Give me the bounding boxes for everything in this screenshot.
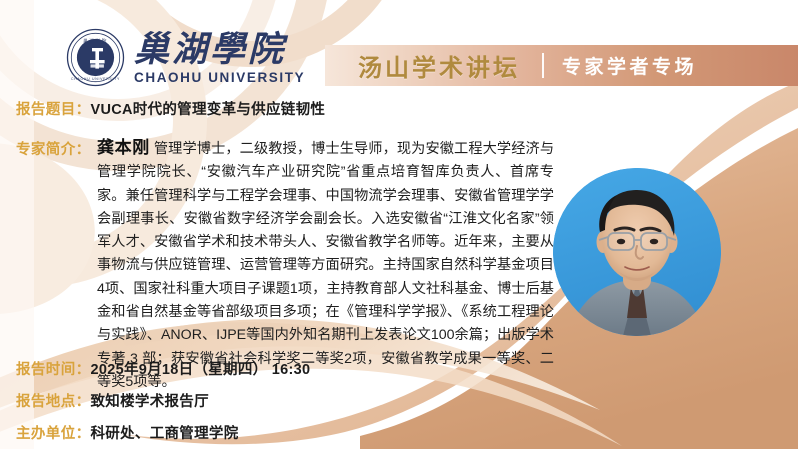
field-row-bio: 专家简介： 龚本刚 管理学博士，二级教授，博士生导师，现为安徽工程大学经济与管理…: [16, 136, 556, 394]
field-row-host: 主办单位： 科研处、工商管理学院: [16, 422, 239, 443]
university-name-en: CHAOHU UNIVERSITY: [134, 70, 305, 85]
banner-main-title: 汤山学术讲坛: [358, 48, 520, 83]
university-logo-wordmark: 巢湖學院 CHAOHU UNIVERSITY: [134, 30, 305, 85]
university-logo: 巢湖学院 CHAOHU UNIVERSITY 巢湖學院 CHAOHU UNIVE…: [66, 28, 305, 87]
poster-root: 巢湖学院 CHAOHU UNIVERSITY 巢湖學院 CHAOHU UNIVE…: [0, 0, 798, 449]
svg-text:巢湖学院: 巢湖学院: [83, 37, 108, 44]
value-host: 科研处、工商管理学院: [91, 422, 239, 443]
value-title: VUCA时代的管理变革与供应链韧性: [91, 98, 326, 119]
university-seal-icon: 巢湖学院 CHAOHU UNIVERSITY: [66, 28, 125, 87]
label-bio: 专家简介：: [16, 138, 91, 159]
field-row-time: 报告时间： 2025年9月18日（星期四） 16:30: [16, 358, 310, 379]
label-host: 主办单位：: [16, 422, 91, 443]
speaker-name: 龚本刚: [97, 138, 150, 157]
value-time: 2025年9月18日（星期四） 16:30: [91, 358, 311, 379]
poster-header: 巢湖学院 CHAOHU UNIVERSITY 巢湖學院 CHAOHU UNIVE…: [0, 0, 798, 96]
bio-text: 管理学博士，二级教授，博士生导师，现为安徽工程大学经济与管理学院院长、“安徽汽车…: [97, 141, 554, 390]
label-place: 报告地点：: [16, 390, 91, 411]
label-title: 报告题目：: [16, 98, 91, 119]
svg-text:CHAOHU UNIVERSITY: CHAOHU UNIVERSITY: [71, 77, 120, 81]
field-row-place: 报告地点： 致知楼学术报告厅: [16, 390, 209, 411]
label-time: 报告时间：: [16, 358, 91, 379]
speaker-portrait: [553, 168, 721, 336]
value-place: 致知楼学术报告厅: [91, 390, 209, 411]
banner-divider: [542, 53, 544, 78]
lecture-series-banner: 汤山学术讲坛 专家学者专场: [325, 45, 798, 86]
banner-subtitle: 专家学者专场: [562, 52, 697, 79]
bio-paragraph: 龚本刚 管理学博士，二级教授，博士生导师，现为安徽工程大学经济与管理学院院长、“…: [97, 136, 554, 394]
field-row-title: 报告题目： VUCA时代的管理变革与供应链韧性: [16, 98, 325, 119]
university-name-cn: 巢湖學院: [134, 32, 305, 68]
